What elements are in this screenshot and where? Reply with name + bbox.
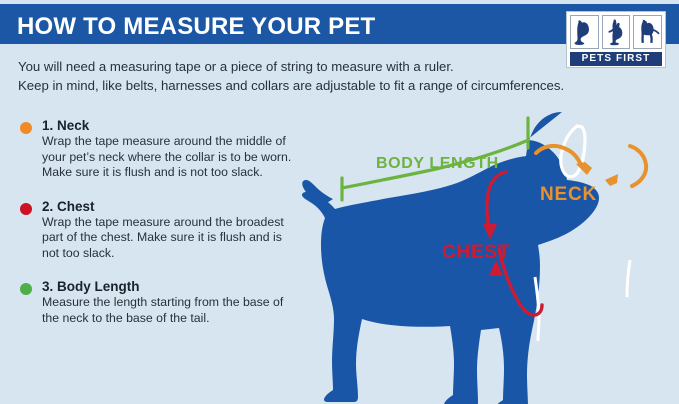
- dog-begging-icon: [602, 15, 631, 49]
- chest-label: CHEST: [442, 242, 510, 263]
- step-item-chest: 2. Chest Wrap the tape measure around th…: [18, 199, 300, 262]
- step-item-body-length: 3. Body Length Measure the length starti…: [18, 279, 300, 326]
- step-bullet-neck: [20, 122, 32, 134]
- intro-line-2: Keep in mind, like belts, harnesses and …: [18, 76, 558, 95]
- step-body-body-length: Measure the length starting from the bas…: [42, 295, 300, 326]
- intro-paragraph: You will need a measuring tape or a piec…: [18, 57, 558, 95]
- logo-panel-row: [570, 15, 662, 49]
- neck-label: NECK: [540, 184, 597, 205]
- step-title-neck: 1. Neck: [42, 118, 300, 133]
- step-title-chest: 2. Chest: [42, 199, 300, 214]
- body-length-label: BODY LENGTH: [376, 155, 499, 172]
- step-body-neck: Wrap the tape measure around the middle …: [42, 134, 300, 181]
- step-item-neck: 1. Neck Wrap the tape measure around the…: [18, 118, 300, 181]
- step-bullet-body-length: [20, 283, 32, 295]
- pets-first-logo: PETS FIRST: [566, 11, 666, 68]
- intro-line-1: You will need a measuring tape or a piec…: [18, 57, 558, 76]
- page-title: HOW TO MEASURE YOUR PET: [17, 13, 375, 41]
- measurement-steps-list: 1. Neck Wrap the tape measure around the…: [18, 118, 300, 344]
- neck-arrow-head-right: [605, 174, 618, 186]
- dog-sitting-icon: [570, 15, 599, 49]
- measuring-guide-page: HOW TO MEASURE YOUR PET: [0, 0, 679, 404]
- dog-measurement-diagram: BODY LENGTH NECK CHEST: [300, 100, 679, 404]
- step-body-chest: Wrap the tape measure around the broades…: [42, 215, 300, 262]
- logo-wordmark: PETS FIRST: [570, 52, 662, 66]
- hind-leg-divider: [627, 260, 630, 297]
- step-bullet-chest: [20, 203, 32, 215]
- step-title-body-length: 3. Body Length: [42, 279, 300, 294]
- dog-standing-icon: [633, 15, 662, 49]
